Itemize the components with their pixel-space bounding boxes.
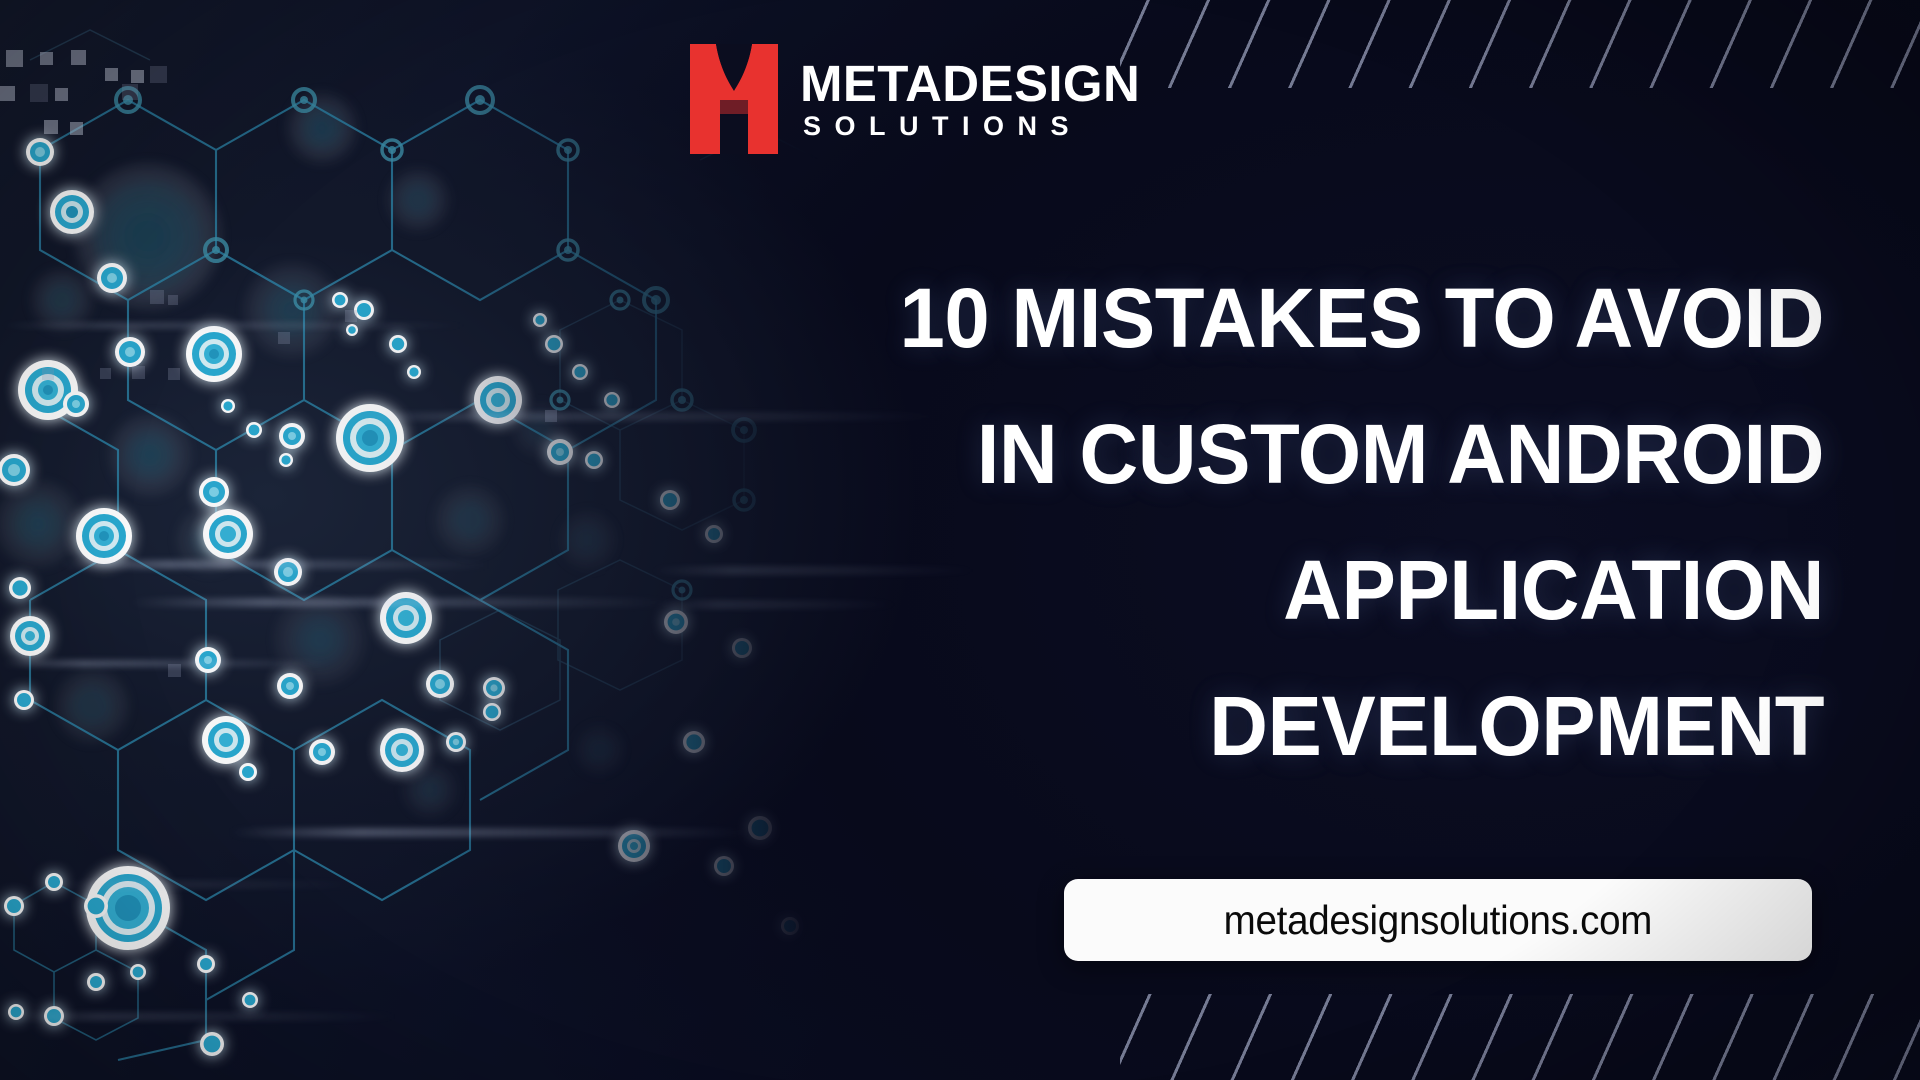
headline-line-2: IN CUSTOM ANDROID <box>718 386 1824 522</box>
light-streak <box>130 598 670 607</box>
pixel-square <box>42 368 54 380</box>
light-streak <box>0 322 470 329</box>
pixel-square <box>168 295 178 305</box>
banner-canvas: METADESIGN SOLUTIONS 10 MISTAKES TO AVOI… <box>0 0 1920 1080</box>
pixel-square <box>44 120 58 134</box>
headline-block: 10 MISTAKES TO AVOID IN CUSTOM ANDROID A… <box>684 250 1824 794</box>
headline-line-3: APPLICATION <box>718 522 1824 658</box>
pixel-square <box>0 86 15 101</box>
pixel-square <box>100 368 111 379</box>
pixel-square <box>105 68 118 81</box>
pixel-square <box>545 410 557 422</box>
brand-tagline: SOLUTIONS <box>800 112 1140 140</box>
diagonal-hatch-bottom-right <box>1120 994 1920 1080</box>
website-url-button[interactable]: metadesignsolutions.com <box>1064 879 1812 961</box>
pixel-square <box>55 88 68 101</box>
light-streak <box>0 660 330 667</box>
brand-logo-lockup[interactable]: METADESIGN SOLUTIONS <box>690 44 1140 154</box>
pixel-square <box>150 290 164 304</box>
light-streak <box>230 828 750 837</box>
headline-line-1: 10 MISTAKES TO AVOID <box>718 250 1824 386</box>
pixel-square <box>6 50 23 67</box>
diagonal-hatch-top-right <box>1120 0 1920 88</box>
light-streak <box>60 880 360 889</box>
pixel-square <box>132 366 145 379</box>
brand-name: METADESIGN <box>800 58 1140 110</box>
light-streak <box>0 1012 400 1021</box>
pixel-square <box>168 368 180 380</box>
pixel-square <box>122 84 138 100</box>
pixel-square <box>131 70 144 83</box>
pixel-square <box>278 332 290 344</box>
pixel-square <box>345 310 357 322</box>
brand-logo-text: METADESIGN SOLUTIONS <box>800 58 1140 140</box>
website-url-label: metadesignsolutions.com <box>1224 897 1652 944</box>
pixel-square <box>30 84 48 102</box>
headline-line-4: DEVELOPMENT <box>718 658 1824 794</box>
pixel-square <box>150 66 167 83</box>
metadesign-m-mark-icon <box>690 44 778 154</box>
pixel-square <box>168 664 181 677</box>
pixel-square <box>70 122 83 135</box>
light-streak <box>60 560 490 569</box>
pixel-square <box>71 50 86 65</box>
pixel-square <box>40 52 53 65</box>
